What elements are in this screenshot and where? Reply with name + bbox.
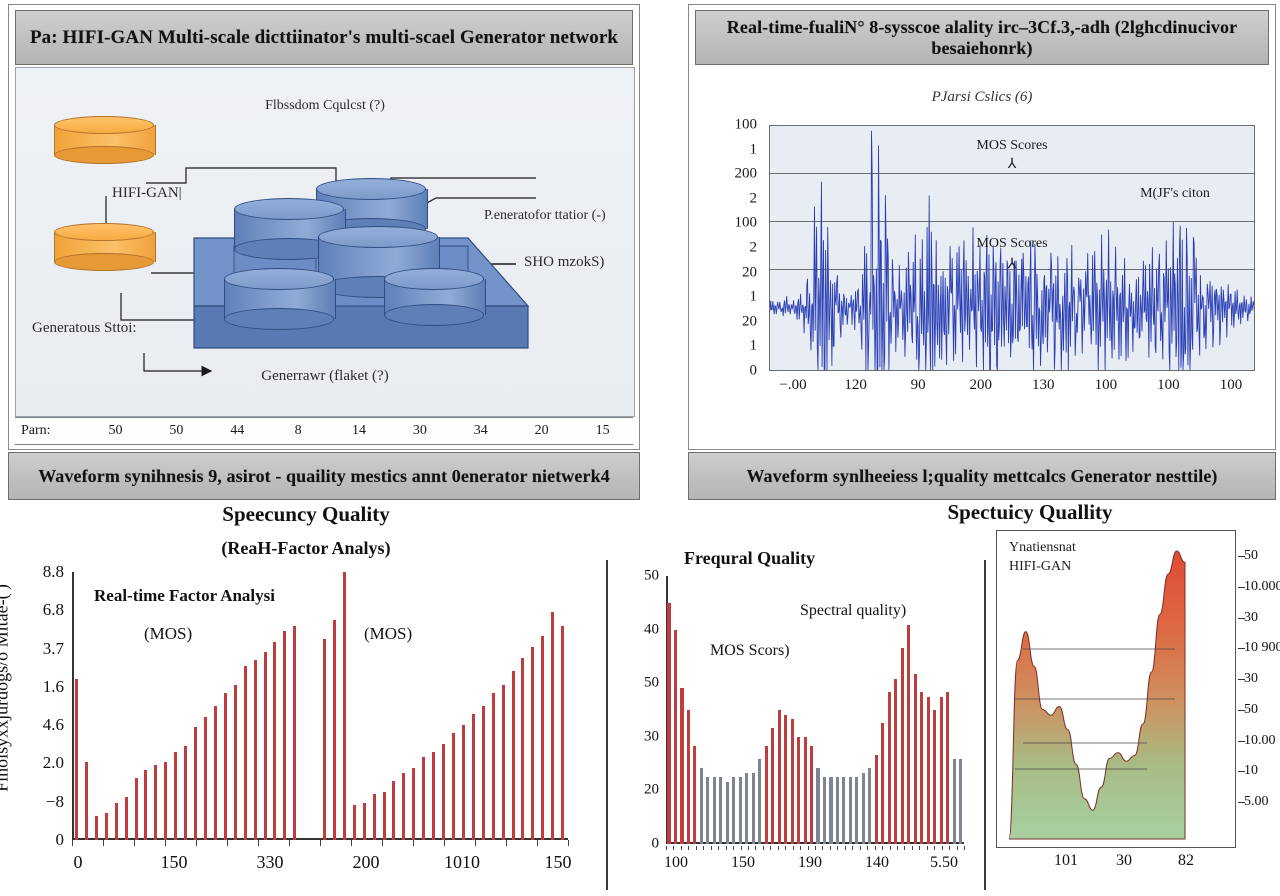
bar bbox=[791, 719, 794, 844]
bottom-right-y-tick: 10 900 bbox=[1244, 640, 1280, 656]
bar bbox=[224, 693, 227, 840]
bar bbox=[771, 728, 774, 844]
x-tickmark bbox=[785, 846, 786, 850]
bar bbox=[234, 685, 237, 840]
x-tickmark bbox=[770, 846, 771, 850]
x-tickmark bbox=[718, 846, 719, 850]
bar bbox=[412, 768, 415, 840]
param-value: 44 bbox=[207, 423, 268, 439]
param-row: Parn: 50 50 44 8 14 30 34 20 15 bbox=[15, 417, 633, 445]
bar bbox=[353, 805, 356, 840]
bottom-middle-plot: MOS Scors) Spectral quality) 50405030200… bbox=[666, 576, 964, 844]
bottom-middle-y-tick: 50 bbox=[644, 568, 659, 585]
bar bbox=[85, 762, 88, 840]
bottom-middle-x-tick: 140 bbox=[865, 854, 889, 872]
bar bbox=[940, 697, 943, 844]
bar bbox=[184, 746, 187, 840]
x-tickmark bbox=[475, 840, 476, 846]
bar bbox=[836, 777, 839, 844]
waveform-y-tick: 1 bbox=[750, 141, 758, 158]
bottom-middle-x-tick: 5.50 bbox=[930, 854, 958, 872]
bar bbox=[862, 773, 865, 845]
bar bbox=[561, 626, 564, 840]
bar bbox=[442, 744, 445, 841]
bar bbox=[797, 737, 800, 844]
figure-page: Pa: HIFI-GAN Multi-scale dicttiinator's … bbox=[0, 0, 1280, 896]
bottom-left-y-tick: 3.7 bbox=[43, 639, 64, 659]
x-tickmark bbox=[927, 846, 928, 850]
bottom-right-x-tick: 82 bbox=[1178, 852, 1194, 870]
x-tickmark bbox=[837, 846, 838, 850]
x-tickmark bbox=[919, 846, 920, 850]
bar bbox=[264, 652, 267, 840]
x-tickmark bbox=[444, 840, 445, 846]
x-tickmark bbox=[778, 846, 779, 850]
bar bbox=[855, 777, 858, 844]
bar bbox=[713, 777, 716, 844]
bar bbox=[920, 692, 923, 844]
bar bbox=[765, 746, 768, 844]
column-divider-2 bbox=[984, 560, 986, 890]
bottom-right-y-tick: 30 bbox=[1244, 671, 1258, 687]
bottom-middle-y-tick: 40 bbox=[644, 621, 659, 638]
column-divider bbox=[606, 560, 608, 890]
bar bbox=[551, 612, 554, 840]
x-tickmark bbox=[537, 840, 538, 846]
bottom-middle-label: Frequral Quality bbox=[684, 548, 815, 569]
bar bbox=[894, 679, 897, 844]
x-tickmark bbox=[703, 846, 704, 850]
bottom-right-y-tick: 10 bbox=[1244, 763, 1258, 779]
waveform-y-tick: 100 bbox=[735, 117, 758, 134]
x-tickmark bbox=[897, 846, 898, 850]
bottom-left-bars bbox=[72, 572, 568, 840]
bar bbox=[343, 572, 346, 840]
figure-top-right: Real-time-fualiN° 8-sysscoe alality irc–… bbox=[688, 4, 1276, 450]
x-tickmark bbox=[949, 846, 950, 850]
x-tickmark bbox=[506, 840, 507, 846]
param-value: 14 bbox=[329, 423, 390, 439]
bottom-right-annotation-line2: HIFI-GAN bbox=[1009, 558, 1076, 577]
bar bbox=[492, 693, 495, 840]
x-tickmark bbox=[815, 846, 816, 850]
bar bbox=[323, 639, 326, 840]
bar bbox=[901, 648, 904, 845]
waveform-annotation-symbol-1: ⅄ bbox=[770, 156, 1254, 173]
diagram-label-bottom: Generrawr (flaket (?) bbox=[16, 368, 634, 385]
bar bbox=[254, 660, 257, 840]
bottom-left-x-tick: 150 bbox=[161, 852, 188, 873]
bar bbox=[907, 625, 910, 844]
architecture-diagram-canvas: Flbssdom Cqulcst (?) HIFI-GAN| Generatou… bbox=[15, 67, 635, 417]
diagram-label-discriminator: P.eneratofor ttatior (-) bbox=[484, 208, 606, 224]
x-tickmark bbox=[258, 840, 259, 846]
x-tickmark bbox=[72, 840, 73, 846]
bar bbox=[333, 620, 336, 840]
waveform-y-tick: 1 bbox=[750, 338, 758, 355]
bottom-left-y-tick: 2.0 bbox=[43, 753, 64, 773]
bottom-left-y-tick: 1.6 bbox=[43, 677, 64, 697]
bottom-middle-y-tick: 30 bbox=[644, 728, 659, 745]
bar bbox=[541, 636, 544, 840]
bar bbox=[810, 746, 813, 844]
bar bbox=[842, 777, 845, 844]
bottom-right-x-tick: 30 bbox=[1116, 852, 1132, 870]
waveform-x-tick: 200 bbox=[969, 377, 992, 394]
bottom-right-y-tick: 10.000 bbox=[1244, 579, 1280, 595]
waveform-x-tick: 100 bbox=[1157, 377, 1180, 394]
bottom-middle-x-tick: 100 bbox=[664, 854, 688, 872]
bar bbox=[154, 765, 157, 840]
bottom-right-y-tick: 50 bbox=[1244, 548, 1258, 564]
bar bbox=[959, 759, 962, 844]
bar bbox=[849, 777, 852, 844]
diagram-label-hifigan: HIFI-GAN| bbox=[112, 185, 182, 202]
x-tickmark bbox=[912, 846, 913, 850]
bar bbox=[706, 777, 709, 844]
figure-top-left: Pa: HIFI-GAN Multi-scale dicttiinator's … bbox=[8, 4, 640, 450]
x-tickmark bbox=[755, 846, 756, 850]
module-cylinder-lower-left bbox=[224, 268, 334, 330]
bar bbox=[804, 737, 807, 844]
bar bbox=[115, 803, 118, 841]
waveform-y-tick: 0 bbox=[750, 363, 758, 380]
waveform-y-tick: 200 bbox=[735, 166, 758, 183]
x-tickmark bbox=[800, 846, 801, 850]
figure-bottom-left: Speecuncy Quality (ReaH-Factor Analys) F… bbox=[0, 500, 612, 896]
bar bbox=[462, 725, 465, 840]
bar bbox=[784, 715, 787, 845]
bar bbox=[164, 762, 167, 840]
x-tickmark bbox=[681, 846, 682, 850]
bar bbox=[502, 685, 505, 840]
bottom-right-y-tick: 10.00 bbox=[1244, 733, 1276, 749]
bar bbox=[816, 768, 819, 844]
param-value: 15 bbox=[572, 423, 633, 439]
module-cylinder-lower-right bbox=[384, 268, 484, 326]
x-tickmark bbox=[741, 846, 742, 850]
bottom-left-subtitle: (ReaH-Factor Analys) bbox=[0, 538, 612, 559]
x-tickmark bbox=[733, 846, 734, 850]
bar bbox=[881, 723, 884, 844]
x-tickmark bbox=[867, 846, 868, 850]
bottom-left-plot: Real-time Factor Analysi (MOS) (MOS) 8.8… bbox=[72, 572, 568, 840]
bar bbox=[383, 792, 386, 840]
figure-top-right-caption: Real-time-fualiN° 8-sysscoe alality irc–… bbox=[695, 10, 1269, 65]
bar bbox=[422, 757, 425, 840]
bar bbox=[914, 674, 917, 844]
figure-top-left-bottom-caption: Waveform synihnesis 9, asirot - quaility… bbox=[8, 452, 640, 500]
x-tickmark bbox=[957, 846, 958, 850]
bar bbox=[244, 666, 247, 840]
waveform-plot-container: PJarsi Cslics (6) 1001200210022012010 −.… bbox=[695, 67, 1269, 443]
bar bbox=[125, 797, 128, 840]
bar bbox=[75, 679, 78, 840]
waveform-annotation-mfs: M(JF's citon bbox=[1100, 186, 1250, 202]
bar bbox=[927, 697, 930, 844]
bottom-left-y-tick: 4.6 bbox=[43, 715, 64, 735]
bottom-middle-x-tick: 150 bbox=[731, 854, 755, 872]
bar bbox=[144, 770, 147, 840]
bar bbox=[373, 794, 376, 840]
bottom-left-y-tick: −8 bbox=[46, 792, 64, 812]
bar bbox=[758, 759, 761, 844]
bar bbox=[700, 768, 703, 844]
bar bbox=[432, 752, 435, 840]
bar bbox=[283, 631, 286, 840]
input-cylinder-upper bbox=[54, 116, 154, 164]
bottom-middle-y-tick: 50 bbox=[644, 675, 659, 692]
bottom-middle-x-tick: 190 bbox=[798, 854, 822, 872]
x-tickmark bbox=[134, 840, 135, 846]
bar bbox=[174, 752, 177, 840]
x-tickmark bbox=[904, 846, 905, 850]
bar bbox=[512, 671, 515, 840]
bottom-left-y-axis-label: Finoisyxxjurdogs/o Mitae‑(') bbox=[0, 538, 13, 838]
figure-top-left-caption: Pa: HIFI-GAN Multi-scale dicttiinator's … bbox=[15, 10, 633, 65]
diagram-label-generator-station: Generatous Sttoi: bbox=[32, 320, 137, 337]
x-tickmark bbox=[696, 846, 697, 850]
bar bbox=[726, 782, 729, 845]
bottom-right-x-tick: 101 bbox=[1054, 852, 1078, 870]
x-tickmark bbox=[165, 840, 166, 846]
bar bbox=[392, 781, 395, 840]
param-value: 20 bbox=[511, 423, 572, 439]
x-tickmark bbox=[748, 846, 749, 850]
x-tickmark bbox=[320, 840, 321, 846]
bar bbox=[953, 759, 956, 844]
bottom-left-x-tick: 150 bbox=[545, 852, 572, 873]
bottom-left-x-tick: 0 bbox=[74, 852, 83, 873]
x-tickmark bbox=[196, 840, 197, 846]
bottom-right-plot: Ynatiensnat HIFI-GAN bbox=[996, 530, 1236, 848]
area-chart-svg bbox=[997, 531, 1236, 848]
bar bbox=[778, 710, 781, 844]
bar bbox=[739, 777, 742, 844]
bar bbox=[293, 626, 296, 840]
bottom-left-title: Speecuncy Quality bbox=[0, 502, 612, 527]
bar bbox=[482, 706, 485, 840]
x-tickmark bbox=[822, 846, 823, 850]
x-tickmark bbox=[666, 846, 667, 850]
param-value: 50 bbox=[146, 423, 207, 439]
figure-bottom-right: Ynatiensnat HIFI-GAN 5010.0003010 900305… bbox=[996, 530, 1280, 880]
bar bbox=[875, 755, 878, 844]
waveform-x-tick: 90 bbox=[911, 377, 926, 394]
bar bbox=[946, 692, 949, 844]
waveform-x-tick: 100 bbox=[1095, 377, 1118, 394]
bar bbox=[105, 813, 108, 840]
x-tickmark bbox=[726, 846, 727, 850]
waveform-x-axis: −.0012090200130100100100 bbox=[769, 375, 1255, 399]
diagram-label-sho-blocks: SHO mzokS) bbox=[524, 254, 604, 271]
x-tickmark bbox=[763, 846, 764, 850]
bar bbox=[135, 778, 138, 840]
x-tickmark bbox=[942, 846, 943, 850]
input-cylinder-lower bbox=[54, 223, 154, 271]
param-value: 34 bbox=[450, 423, 511, 439]
bar bbox=[680, 688, 683, 844]
param-value: 8 bbox=[268, 423, 329, 439]
bar bbox=[732, 777, 735, 844]
waveform-y-axis: 1001200210022012010 bbox=[695, 125, 763, 371]
x-tickmark bbox=[875, 846, 876, 850]
bottom-middle-y-tick: 0 bbox=[652, 836, 660, 853]
bottom-right-annotation: Ynatiensnat HIFI-GAN bbox=[1009, 539, 1076, 577]
x-tickmark bbox=[860, 846, 861, 850]
bar bbox=[472, 714, 475, 840]
x-tickmark bbox=[568, 840, 569, 846]
bottom-right-y-tick: 5.00 bbox=[1244, 794, 1269, 810]
bar bbox=[687, 710, 690, 844]
x-tickmark bbox=[688, 846, 689, 850]
waveform-annotation-mos-1: MOS Scores bbox=[770, 138, 1254, 154]
bottom-left-y-tick: 0 bbox=[56, 830, 65, 850]
x-tickmark bbox=[830, 846, 831, 850]
bottom-left-x-tick: 1010 bbox=[444, 852, 480, 873]
x-tickmark bbox=[845, 846, 846, 850]
bar bbox=[402, 773, 405, 840]
bar bbox=[888, 692, 891, 844]
param-value: 30 bbox=[389, 423, 450, 439]
bar bbox=[752, 773, 755, 845]
diagram-label-top: Flbssdom Cqulcst (?) bbox=[16, 98, 634, 114]
bottom-right-annotation-line1: Ynatiensnat bbox=[1009, 539, 1076, 558]
bar bbox=[829, 777, 832, 844]
param-value: 50 bbox=[85, 423, 146, 439]
x-tickmark bbox=[227, 840, 228, 846]
waveform-x-tick: 100 bbox=[1220, 377, 1243, 394]
x-tickmark bbox=[852, 846, 853, 850]
waveform-y-tick: 20 bbox=[742, 264, 757, 281]
waveform-annotation-mos-2: MOS Scores bbox=[770, 236, 1254, 252]
bar bbox=[667, 603, 670, 844]
waveform-y-tick: 1 bbox=[750, 289, 758, 306]
bottom-right-title: Spectuicy Quallity bbox=[880, 500, 1180, 525]
bar bbox=[531, 647, 534, 840]
bar bbox=[363, 803, 366, 841]
x-tickmark bbox=[808, 846, 809, 850]
bottom-left-x-tick: 330 bbox=[257, 852, 284, 873]
bottom-middle-y-tick: 20 bbox=[644, 782, 659, 799]
waveform-x-tick: −.00 bbox=[779, 377, 806, 394]
x-tickmark bbox=[793, 846, 794, 850]
x-tickmark bbox=[673, 846, 674, 850]
waveform-plot: MOS Scores ⅄ M(JF's citon MOS Scores ⅄ bbox=[769, 125, 1255, 371]
x-tickmark bbox=[934, 846, 935, 850]
bottom-left-y-tick: 8.8 bbox=[43, 562, 64, 582]
bar bbox=[194, 727, 197, 840]
bar bbox=[95, 816, 98, 840]
bar bbox=[693, 746, 696, 844]
x-tickmark bbox=[289, 840, 290, 846]
waveform-y-tick: 2 bbox=[750, 190, 758, 207]
bottom-right-y-tick: 30 bbox=[1244, 610, 1258, 626]
x-tickmark bbox=[711, 846, 712, 850]
bottom-middle-bars bbox=[666, 576, 964, 844]
waveform-y-tick: 2 bbox=[750, 240, 758, 257]
bar bbox=[745, 773, 748, 845]
figure-bottom-middle: Frequral Quality MOS Scors) Spectral qua… bbox=[620, 500, 992, 896]
waveform-y-tick: 100 bbox=[735, 215, 758, 232]
bar bbox=[719, 777, 722, 844]
bar bbox=[273, 642, 276, 840]
bar bbox=[521, 658, 524, 840]
bar bbox=[823, 777, 826, 844]
bar bbox=[204, 717, 207, 840]
waveform-x-tick: 120 bbox=[844, 377, 867, 394]
waveform-plot-title: PJarsi Cslics (6) bbox=[695, 89, 1269, 106]
bar bbox=[868, 768, 871, 844]
x-tickmark bbox=[103, 840, 104, 846]
x-tickmark bbox=[882, 846, 883, 850]
figure-top-right-bottom-caption: Waveform synlheeiess l;quality mettcalcs… bbox=[688, 452, 1276, 500]
bottom-left-x-tick: 200 bbox=[353, 852, 380, 873]
waveform-annotation-symbol-2: ⅄ bbox=[770, 256, 1254, 273]
bar bbox=[214, 706, 217, 840]
bar bbox=[452, 733, 455, 840]
param-row-label: Parn: bbox=[15, 423, 85, 439]
x-tickmark bbox=[964, 846, 965, 850]
bottom-right-y-tick: 50 bbox=[1244, 702, 1258, 718]
bar bbox=[933, 710, 936, 844]
x-tickmark bbox=[413, 840, 414, 846]
bottom-left-y-tick: 6.8 bbox=[43, 600, 64, 620]
bar bbox=[674, 630, 677, 844]
x-tickmark bbox=[351, 840, 352, 846]
x-tickmark bbox=[890, 846, 891, 850]
waveform-x-tick: 130 bbox=[1032, 377, 1055, 394]
x-tickmark bbox=[382, 840, 383, 846]
waveform-y-tick: 20 bbox=[742, 313, 757, 330]
